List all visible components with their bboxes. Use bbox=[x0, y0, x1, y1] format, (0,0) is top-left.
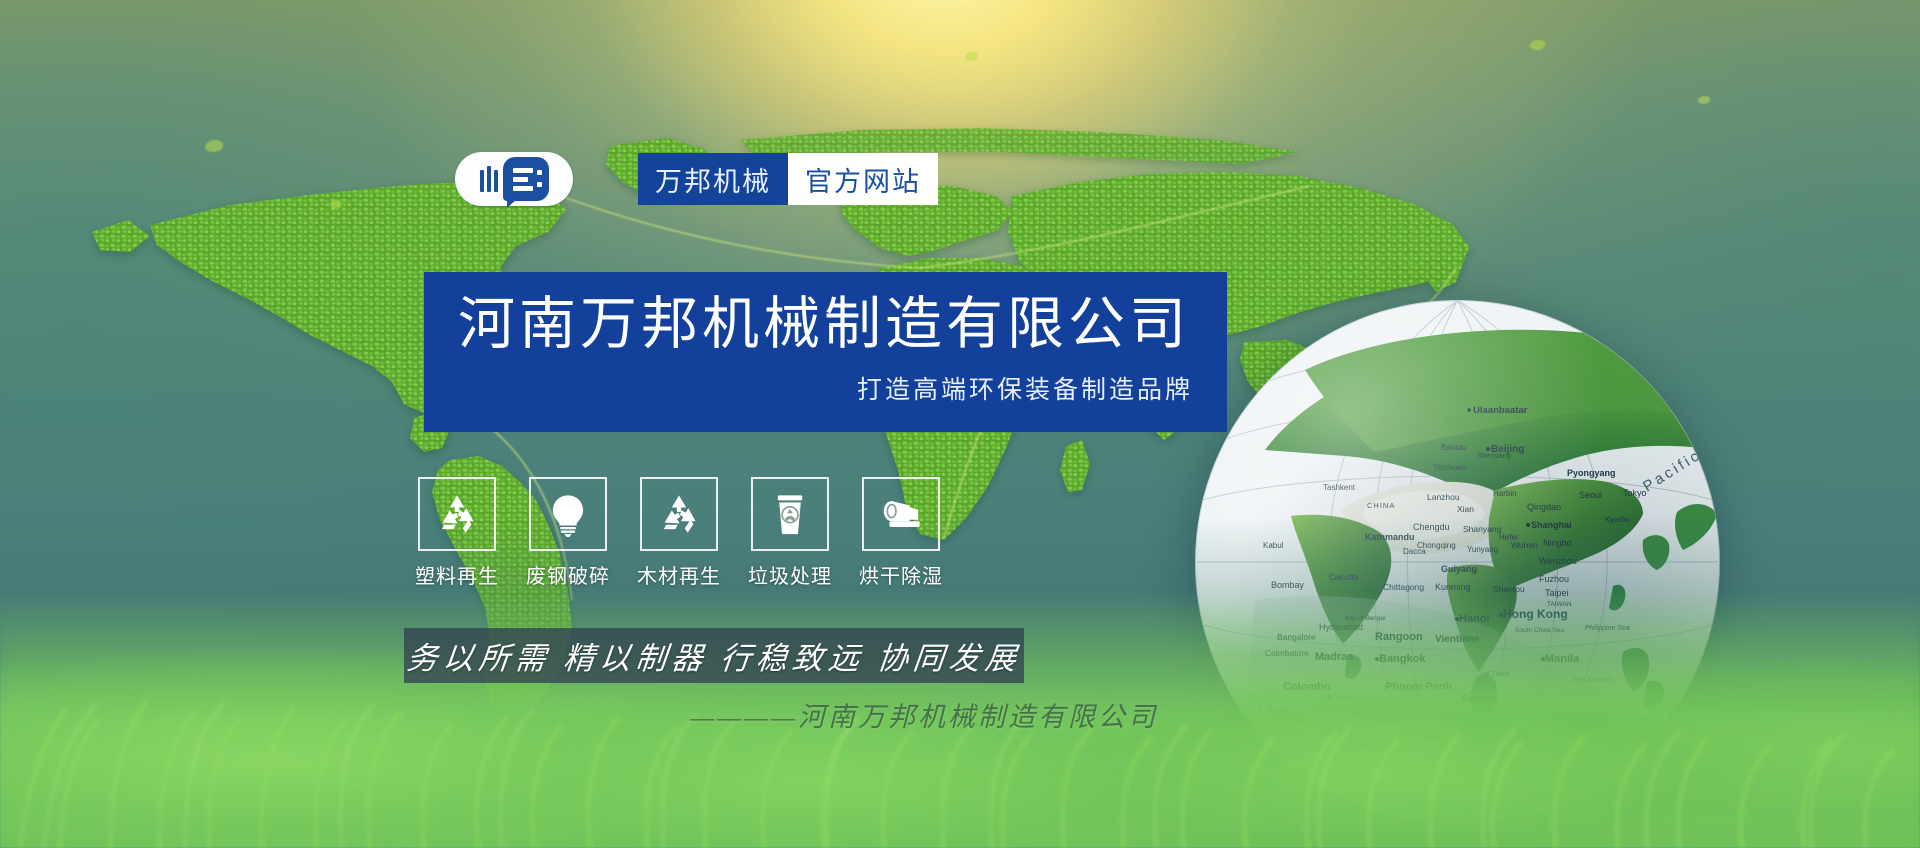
svg-text:Seoul: Seoul bbox=[1579, 490, 1602, 500]
nav-tab-official-site-label: 官方网站 bbox=[805, 160, 921, 199]
svg-text:Harbin: Harbin bbox=[1493, 489, 1517, 498]
svg-text:Ulaanbaatar: Ulaanbaatar bbox=[1473, 405, 1528, 416]
company-logo[interactable] bbox=[455, 152, 573, 206]
recycle-icon bbox=[656, 491, 702, 537]
hero-title-panel: 河南万邦机械制造有限公司 打造高端环保装备制造品牌 bbox=[424, 272, 1227, 432]
svg-text:Lanzhou: Lanzhou bbox=[1427, 492, 1460, 502]
company-tagline: 打造高端环保装备制造品牌 bbox=[458, 370, 1193, 406]
svg-text:Tashkent: Tashkent bbox=[1323, 483, 1356, 492]
feature-item-waste-treatment[interactable]: 垃圾处理 bbox=[751, 477, 829, 589]
feature-label: 木材再生 bbox=[637, 560, 721, 589]
feature-item-wood-recycling[interactable]: 木材再生 bbox=[640, 477, 718, 589]
feature-item-drying-dehumidify[interactable]: 烘干除湿 bbox=[862, 477, 940, 589]
logo-b-icon bbox=[503, 157, 549, 201]
feature-icon-box bbox=[529, 477, 607, 551]
recycle-icon bbox=[434, 491, 480, 537]
slogan-signature: ————河南万邦机械制造有限公司 bbox=[690, 695, 1158, 734]
feature-item-scrap-crushing[interactable]: 废钢破碎 bbox=[529, 477, 607, 589]
feature-item-plastic-recycling[interactable]: 塑料再生 bbox=[418, 477, 496, 589]
svg-text:Tokyo: Tokyo bbox=[1623, 488, 1647, 498]
hero-banner: Ulaanbaatar Beijing Baotou Yinchuan Lanz… bbox=[0, 0, 1920, 848]
slogan-banner: 务以所需 精以制器 行稳致远 协同发展 bbox=[404, 628, 1024, 683]
nav-tab-brand-label: 万邦机械 bbox=[655, 160, 771, 199]
svg-text:CHINA: CHINA bbox=[1367, 501, 1395, 510]
nav-tab-brand[interactable]: 万邦机械 bbox=[638, 153, 788, 205]
lightbulb-icon bbox=[545, 491, 591, 537]
company-name: 河南万邦机械制造有限公司 bbox=[458, 294, 1193, 356]
feature-icon-box bbox=[751, 477, 829, 551]
logo-w-icon bbox=[480, 166, 498, 192]
slogan-text: 务以所需 精以制器 行稳致远 协同发展 bbox=[405, 633, 1024, 678]
feature-icon-box bbox=[640, 477, 718, 551]
svg-text:Xian: Xian bbox=[1457, 504, 1474, 514]
nav-tab-official-site[interactable]: 官方网站 bbox=[788, 153, 938, 205]
svg-text:Yinchuan: Yinchuan bbox=[1433, 463, 1466, 472]
dryer-icon bbox=[878, 491, 924, 537]
trash-bin-icon bbox=[767, 491, 813, 537]
svg-text:Baotou: Baotou bbox=[1441, 443, 1466, 452]
feature-label: 废钢破碎 bbox=[526, 560, 610, 589]
feature-icon-box bbox=[418, 477, 496, 551]
svg-text:Pyongyang: Pyongyang bbox=[1567, 468, 1616, 478]
feature-label: 塑料再生 bbox=[415, 560, 499, 589]
feature-label: 烘干除湿 bbox=[859, 560, 943, 589]
site-header: 万邦机械 官方网站 bbox=[455, 148, 938, 210]
svg-text:Shenyang: Shenyang bbox=[1477, 451, 1511, 460]
feature-icon-row: 塑料再生 废钢破碎 bbox=[418, 477, 940, 589]
svg-text:Qingdao: Qingdao bbox=[1527, 502, 1561, 512]
feature-label: 垃圾处理 bbox=[748, 560, 832, 589]
feature-icon-box bbox=[862, 477, 940, 551]
